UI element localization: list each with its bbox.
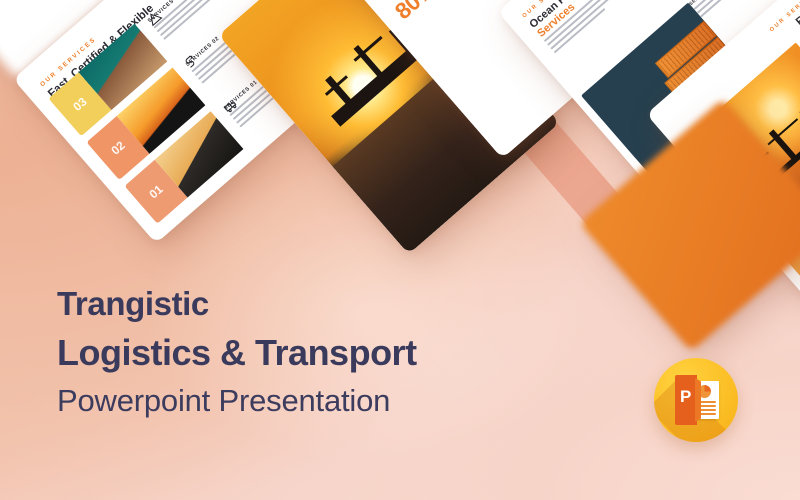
document-fold <box>695 378 701 422</box>
slide-deck: OUR SERVICES Fast, Certified & Flexible … <box>0 0 800 282</box>
page-subtitle: Powerpoint Presentation <box>57 383 417 418</box>
powerpoint-letter: P <box>680 388 691 405</box>
title-block: Trangistic Logistics & Transport Powerpo… <box>57 286 417 419</box>
page-title: Logistics & Transport <box>57 333 417 373</box>
poster-stage: OUR SERVICES Fast, Certified & Flexible … <box>0 0 800 500</box>
service-number: 03 <box>70 95 89 114</box>
service-number: 01 <box>146 182 165 201</box>
service-number: 02 <box>108 138 127 157</box>
feature-lines <box>693 0 766 20</box>
brand-name: Trangistic <box>57 286 417 323</box>
powerpoint-badge[interactable]: P <box>654 358 738 442</box>
